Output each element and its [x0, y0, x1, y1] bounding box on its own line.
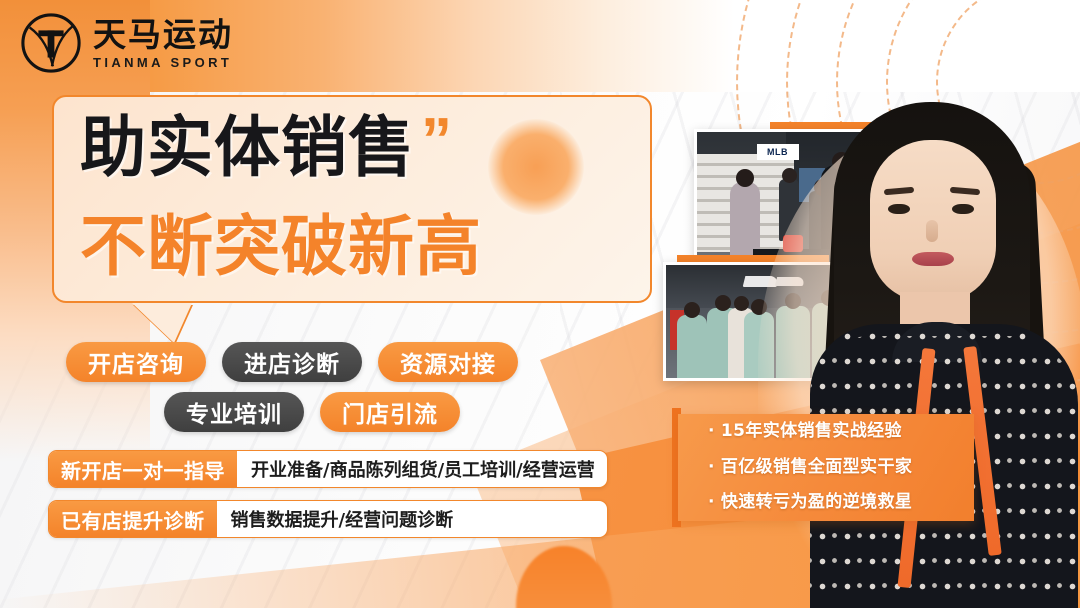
brand-name-cn: 天马运动: [93, 18, 233, 51]
bullet-dot-icon-3: ·: [708, 494, 715, 511]
bullet-dot-icon-1: ·: [708, 423, 715, 440]
headline-line-1: 助实体销售: [80, 115, 415, 181]
quotation-mark-icon: ”: [421, 115, 452, 168]
headline-line-1-row: 助实体销售 ”: [80, 115, 650, 181]
credential-item-2: · 百亿级销售全面型实干家: [678, 450, 974, 486]
promo-banner: 天马运动 TIANMA SPORT 助实体销售 ” 不断突破新高 开店咨询 进店…: [0, 0, 1080, 608]
service-value-existing-store: 销售数据提升/经营问题诊断: [217, 501, 468, 537]
service-label-new-store: 新开店一对一指导: [49, 451, 237, 487]
basketball-monogram-icon: [20, 12, 82, 74]
portrait-nose: [926, 220, 938, 242]
tag-jindian-zhenduan[interactable]: 进店诊断: [222, 342, 362, 382]
credential-text-2: 百亿级销售全面型实干家: [721, 459, 912, 476]
credential-text-3: 快速转亏为盈的逆境救星: [721, 494, 912, 511]
service-row-new-store[interactable]: 新开店一对一指导 开业准备/商品陈列组货/员工培训/经营运营: [48, 450, 608, 488]
headline-speech-bubble: 助实体销售 ” 不断突破新高: [52, 95, 652, 303]
tag-kaidian-zixun[interactable]: 开店咨询: [66, 342, 206, 382]
tag-zhuanye-peixun[interactable]: 专业培训: [164, 392, 304, 432]
headline-line-2: 不断突破新高: [80, 193, 650, 289]
portrait-eye-right: [952, 204, 974, 214]
service-value-new-store: 开业准备/商品陈列组货/员工培训/经营运营: [237, 451, 608, 487]
brand-logo-text: 天马运动 TIANMA SPORT: [93, 18, 233, 69]
credential-item-1: · 15年实体销售实战经验: [678, 414, 974, 450]
credential-text-1: 15年实体销售实战经验: [721, 423, 902, 440]
bubble-tail: [132, 303, 192, 343]
headline-text-block: 助实体销售 ” 不断突破新高: [54, 97, 650, 289]
credential-item-3: · 快速转亏为盈的逆境救星: [678, 485, 974, 521]
tag-ziyuan-duijie[interactable]: 资源对接: [378, 342, 518, 382]
brand-name-en: TIANMA SPORT: [93, 56, 233, 69]
service-row-existing-store[interactable]: 已有店提升诊断 销售数据提升/经营问题诊断: [48, 500, 608, 538]
tag-row-1: 开店咨询 进店诊断 资源对接: [66, 342, 656, 382]
portrait-eye-left: [888, 204, 910, 214]
tag-row-2: 专业培训 门店引流: [66, 392, 656, 432]
credentials-panel: · 15年实体销售实战经验 · 百亿级销售全面型实干家 · 快速转亏为盈的逆境救…: [678, 414, 974, 521]
brand-logo: 天马运动 TIANMA SPORT: [20, 12, 233, 74]
service-tag-list: 开店咨询 进店诊断 资源对接 专业培训 门店引流: [66, 342, 656, 442]
presenter-portrait: [788, 96, 1080, 608]
service-label-existing-store: 已有店提升诊断: [49, 501, 217, 537]
service-detail-list: 新开店一对一指导 开业准备/商品陈列组货/员工培训/经营运营 已有店提升诊断 销…: [48, 450, 608, 550]
headline-bubble-wrapper: 助实体销售 ” 不断突破新高: [52, 95, 652, 303]
bullet-dot-icon-2: ·: [708, 459, 715, 476]
tag-mendian-yinliu[interactable]: 门店引流: [320, 392, 460, 432]
portrait-mouth: [912, 252, 954, 266]
